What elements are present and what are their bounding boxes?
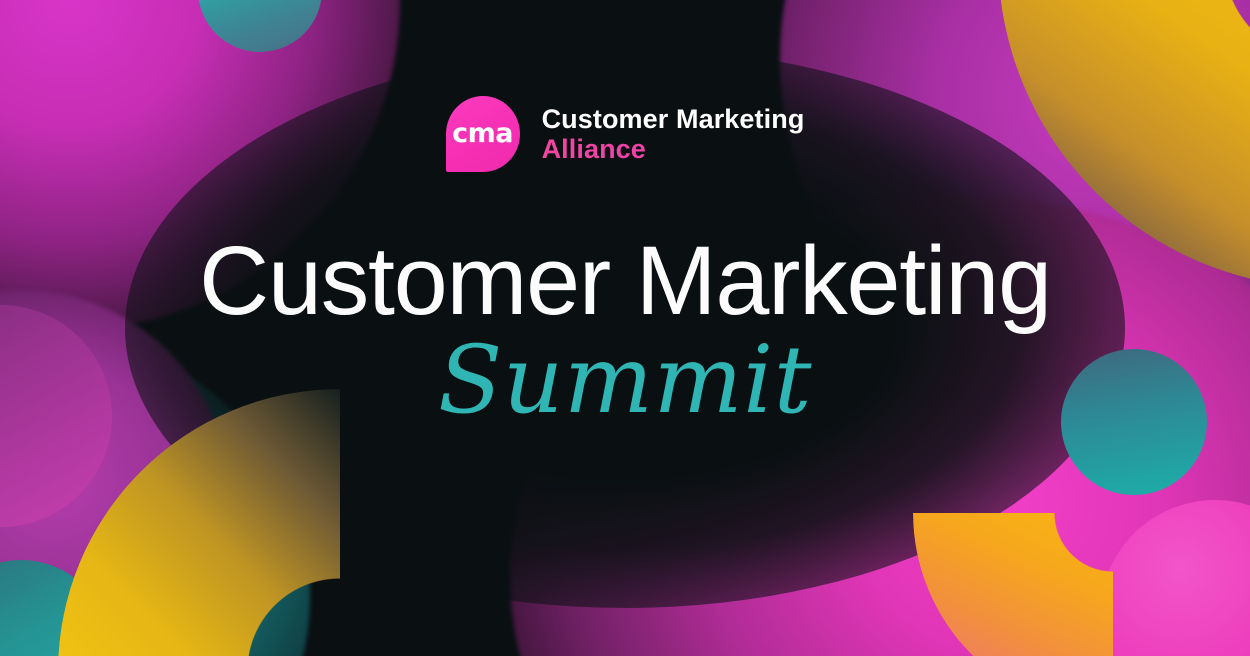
headline-line2: Summit	[0, 333, 1250, 429]
headline-line1: Customer Marketing	[0, 232, 1250, 329]
page-title: Customer Marketing Summit	[0, 232, 1250, 429]
cma-logo-text: cma	[452, 120, 513, 147]
brand-lockup: cma Customer Marketing Alliance	[0, 96, 1250, 172]
pink-circle-bottom-right-icon	[1100, 500, 1250, 656]
cma-logo-icon: cma	[446, 96, 520, 172]
brand-name-line1: Customer Marketing	[542, 105, 805, 133]
brand-wordmark: Customer Marketing Alliance	[542, 105, 805, 163]
brand-name-line2: Alliance	[542, 135, 805, 163]
orange-arc-bottom-right-icon	[913, 513, 1113, 656]
summit-banner: cma Customer Marketing Alliance Customer…	[0, 0, 1250, 656]
teal-circle-top-icon	[198, 0, 322, 52]
